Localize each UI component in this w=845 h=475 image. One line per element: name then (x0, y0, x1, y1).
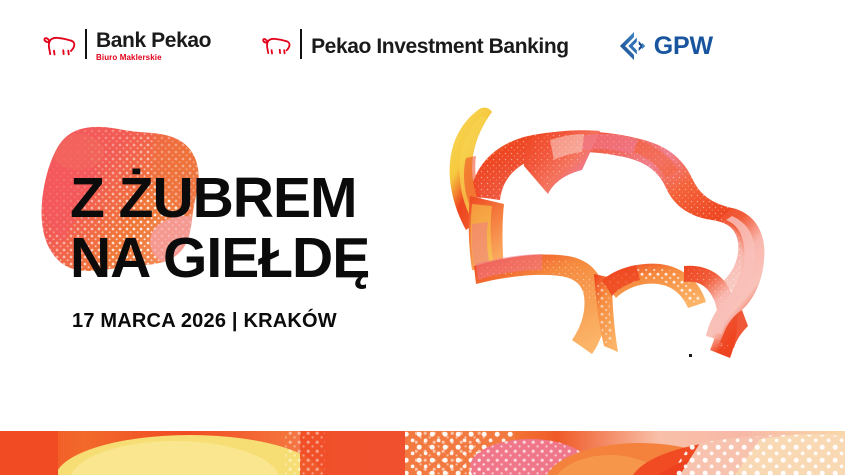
logo-wordmark: GPW (654, 32, 713, 61)
event-poster: Bank Pekao Biuro Maklerskie (0, 0, 845, 475)
headline-line-1: Z ŻUBREM (70, 168, 369, 228)
logo-gpw[interactable]: GPW (619, 26, 713, 66)
event-dateline: 17 MARCA 2026 | KRAKÓW (72, 310, 337, 333)
decorative-bottom-band (0, 431, 845, 475)
headline: Z ŻUBREM NA GIEŁDĘ (70, 168, 369, 288)
bison-mark-icon (261, 35, 291, 57)
logo-text-block: Pekao Investment Banking (311, 36, 569, 57)
bison-outline-illustration (432, 104, 777, 376)
bison-mark-icon (42, 34, 76, 58)
logo-pekao-investment-banking[interactable]: Pekao Investment Banking (261, 26, 569, 66)
logo-wordmark: Bank Pekao (96, 30, 211, 51)
logo-divider (300, 29, 302, 59)
headline-line-2: NA GIEŁDĘ (70, 228, 369, 288)
decorative-speck (689, 354, 692, 357)
gpw-mark-icon (619, 31, 649, 61)
logo-subtitle: Biuro Maklerskie (96, 54, 211, 62)
logo-divider (85, 29, 87, 59)
logo-text-block: Bank Pekao Biuro Maklerskie (96, 30, 211, 62)
sponsor-logo-bar: Bank Pekao Biuro Maklerskie (42, 26, 713, 66)
logo-wordmark: Pekao Investment Banking (311, 36, 569, 57)
logo-bank-pekao-biuro-maklerskie[interactable]: Bank Pekao Biuro Maklerskie (42, 26, 211, 66)
